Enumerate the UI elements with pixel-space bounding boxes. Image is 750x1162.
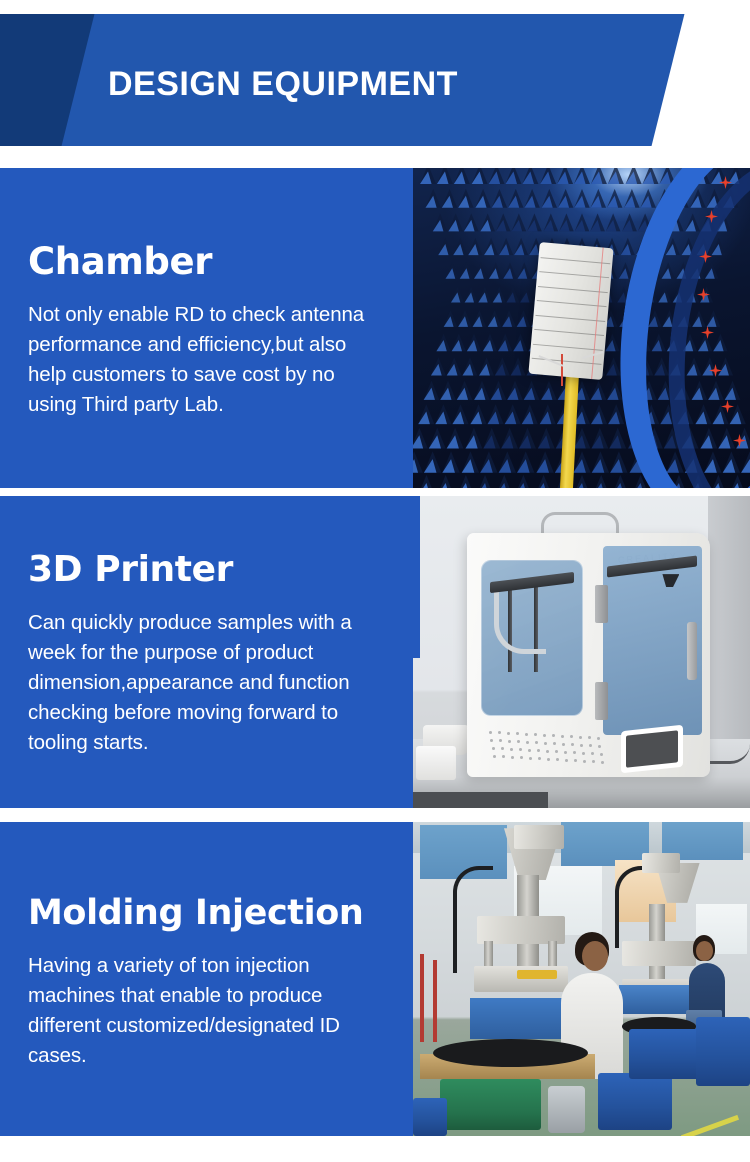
absorber-cone (440, 381, 456, 400)
absorber-cone (501, 428, 518, 449)
absorber-cone (514, 475, 532, 488)
vent-hole (597, 737, 600, 740)
vent-hole (517, 740, 520, 743)
absorber-cone (464, 286, 477, 302)
vent-hole (498, 731, 501, 734)
card-title: 3D Printer (28, 548, 385, 592)
absorber-cone (488, 262, 502, 279)
vent-hole (507, 732, 510, 735)
card-title: Chamber (28, 240, 385, 284)
absorber-cone (442, 451, 459, 472)
printer-enclosure: CREALITY (467, 533, 710, 776)
absorber-cone (420, 168, 436, 184)
absorber-cone (437, 475, 455, 488)
rack-pole (433, 960, 437, 1042)
absorber-cone (572, 475, 590, 488)
molded-cable-pile (433, 1039, 588, 1067)
vent-hole (556, 758, 559, 761)
absorber-cone (473, 381, 489, 400)
absorber-cone (443, 310, 457, 327)
vent-hole (534, 733, 537, 736)
absorber-cone (537, 428, 554, 449)
vent-hole (492, 747, 495, 750)
vent-hole (493, 755, 496, 758)
scene-left-blue-edge (413, 496, 420, 658)
vent-hole (553, 742, 556, 745)
absorber-cone (467, 333, 481, 351)
printer-touchscreen[interactable] (621, 724, 683, 773)
vent-hole (525, 733, 528, 736)
printer-door-hinge (595, 585, 608, 623)
feature-card-molding-injection: Molding Injection Having a variety of to… (0, 822, 750, 1136)
absorber-cone (454, 168, 470, 184)
machine-base (470, 998, 564, 1039)
antenna-under-test (529, 242, 614, 380)
printer-filament-tube (494, 592, 546, 654)
injection-machine-head (642, 853, 680, 873)
absorber-cone (556, 168, 572, 184)
absorber-cone (487, 404, 503, 424)
absorber-cone (618, 262, 632, 279)
absorber-cone (517, 262, 531, 279)
absorber-cone (482, 333, 496, 351)
absorber-cone (524, 189, 539, 208)
anechoic-chamber-photo (413, 168, 750, 488)
absorber-cone (459, 262, 473, 279)
printer-scene: CREALITY (413, 496, 750, 808)
absorber-cone (504, 404, 520, 424)
absorber-cone (471, 168, 487, 184)
vent-hole (508, 740, 511, 743)
injection-molding-photo (413, 822, 750, 1136)
absorber-cone (495, 475, 513, 488)
page-header: DESIGN EQUIPMENT (0, 0, 750, 160)
absorber-cone (558, 213, 573, 231)
antenna-red-cable (561, 354, 563, 386)
green-crate (440, 1079, 541, 1129)
printer-door-hinge (595, 682, 608, 720)
printer-door-panel[interactable] (603, 546, 702, 736)
page-title: DESIGN EQUIPMENT (108, 62, 458, 106)
vent-hole (489, 731, 492, 734)
absorber-cone (436, 333, 450, 351)
absorber-cone (494, 357, 509, 375)
absorber-cone (573, 168, 589, 184)
absorber-cone (505, 168, 521, 184)
absorber-cone (591, 404, 607, 424)
card-title: Molding Injection (28, 891, 385, 935)
absorber-cone (540, 381, 556, 400)
printer-top-handle (541, 512, 619, 534)
vent-hole (543, 734, 546, 737)
vent-hole (535, 741, 538, 744)
absorber-cone (517, 451, 534, 472)
vent-hole (589, 744, 592, 747)
vent-hole (588, 736, 591, 739)
vent-hole (565, 759, 568, 762)
absorber-cone (609, 428, 626, 449)
absorber-cone (516, 310, 530, 327)
absorber-cone (450, 286, 463, 302)
absorber-cone (447, 428, 464, 449)
absorber-cone (429, 428, 446, 449)
printer-nozzle (662, 574, 679, 587)
card-text-block: 3D Printer Can quickly produce samples w… (0, 496, 413, 808)
vent-hole (528, 749, 531, 752)
card-text-block: Molding Injection Having a variety of to… (0, 822, 413, 1136)
vent-hole (573, 751, 576, 754)
absorber-cone (435, 404, 451, 424)
absorber-cone (511, 213, 526, 231)
absorber-cone (475, 475, 493, 488)
printer-door-handle[interactable] (687, 622, 697, 680)
absorber-cone (478, 286, 491, 302)
vent-hole (592, 760, 595, 763)
absorber-cone (413, 451, 422, 472)
absorber-cone (430, 357, 445, 375)
vent-hole (537, 749, 540, 752)
vent-hole (520, 756, 523, 759)
absorber-cone (464, 213, 479, 231)
absorber-cone (590, 189, 605, 208)
absorber-cone (491, 189, 506, 208)
absorber-cone (498, 238, 512, 255)
card-description: Can quickly produce samples with a week … (28, 608, 385, 758)
vent-hole (579, 736, 582, 739)
vent-hole (580, 744, 583, 747)
control-label (517, 970, 557, 979)
vent-hole (501, 747, 504, 750)
absorber-cone (591, 451, 608, 472)
absorber-cone (527, 213, 542, 231)
absorber-cone (497, 333, 511, 351)
vent-hole (538, 757, 541, 760)
absorber-cone (606, 213, 621, 231)
absorber-cone (458, 189, 473, 208)
vent-hole (529, 757, 532, 760)
absorber-cone (539, 404, 555, 424)
vent-hole (490, 739, 493, 742)
absorber-cone (438, 238, 452, 255)
absorber-cone (621, 213, 636, 231)
plastic-stool (548, 1086, 585, 1133)
vent-hole (583, 760, 586, 763)
absorber-cone (510, 357, 525, 375)
floor-strip (413, 792, 548, 808)
blue-crate (696, 1017, 750, 1086)
blue-crate (629, 1029, 703, 1079)
absorber-cone (468, 238, 482, 255)
absorber-cone (573, 451, 590, 472)
absorber-cone (452, 404, 468, 424)
absorber-cone (446, 357, 461, 375)
absorber-cone (483, 428, 500, 449)
absorber-cone (445, 262, 459, 279)
absorber-cone (502, 310, 516, 327)
vent-hole (526, 741, 529, 744)
filament-container (416, 746, 456, 780)
absorber-cone (480, 451, 497, 472)
absorber-cone (458, 310, 472, 327)
injection-machine-frame (477, 916, 565, 944)
card-text-block: Chamber Not only enable RD to check ante… (0, 168, 413, 488)
vent-hole (546, 750, 549, 753)
absorber-cone (514, 238, 528, 255)
absorber-cone (506, 286, 519, 302)
absorber-cone (413, 475, 416, 488)
floor-marking (681, 1115, 739, 1136)
absorber-cone (574, 189, 589, 208)
absorber-cone (508, 189, 523, 208)
absorber-cone (470, 404, 486, 424)
absorber-cone (608, 404, 624, 424)
vent-hole (600, 753, 603, 756)
absorber-cone (490, 381, 506, 400)
absorber-cone (488, 168, 504, 184)
vent-hole (552, 734, 555, 737)
absorber-cone (465, 428, 482, 449)
absorber-cone (423, 381, 439, 400)
absorber-cone (457, 381, 473, 400)
absorber-cone (483, 238, 497, 255)
absorber-cone (605, 333, 619, 351)
absorber-cone (456, 475, 474, 488)
vent-hole (571, 743, 574, 746)
absorber-cone (541, 189, 556, 208)
absorber-cone (519, 428, 536, 449)
rack-pole (420, 954, 424, 1042)
absorber-cone (557, 189, 572, 208)
injection-machine-head (514, 825, 564, 849)
absorber-cone (611, 475, 629, 488)
feature-card-3d-printer: 3D Printer Can quickly produce samples w… (0, 496, 750, 808)
vent-hole (601, 761, 604, 764)
blue-crate (598, 1073, 672, 1130)
vent-hole (502, 755, 505, 758)
absorber-cone (591, 428, 608, 449)
vent-hole (582, 752, 585, 755)
absorber-cone (475, 189, 490, 208)
vent-hole (547, 758, 550, 761)
absorber-cone (413, 428, 427, 449)
printer-vent-grill (489, 731, 601, 765)
absorber-cone (640, 189, 655, 208)
absorber-cone (592, 475, 610, 488)
printer-gantry (490, 571, 574, 592)
absorber-cone (620, 238, 634, 255)
vent-hole (516, 732, 519, 735)
vent-hole (574, 759, 577, 762)
absorber-cone (574, 213, 589, 231)
absorber-cone (424, 451, 441, 472)
absorber-cone (418, 404, 434, 424)
absorber-cone (607, 189, 622, 208)
absorber-cone (539, 168, 555, 184)
absorber-cone (451, 333, 465, 351)
absorber-cone (442, 189, 457, 208)
absorber-cone (462, 357, 477, 375)
absorber-cone (522, 404, 538, 424)
feature-card-chamber: Chamber Not only enable RD to check ante… (0, 168, 750, 488)
absorber-cone (453, 238, 467, 255)
vent-hole (519, 748, 522, 751)
injection-machine-frame (622, 941, 696, 966)
absorber-cone (524, 381, 540, 400)
card-description: Having a variety of ton injection machin… (28, 951, 385, 1071)
absorber-cone (535, 451, 552, 472)
vent-hole (511, 756, 514, 759)
absorber-cone (522, 168, 538, 184)
chamber-scene (413, 168, 750, 488)
printer-gantry (607, 555, 697, 577)
absorber-cone (507, 381, 523, 400)
absorber-cone (432, 213, 447, 231)
vent-hole (544, 742, 547, 745)
absorber-cone (495, 213, 510, 231)
worker-head (582, 941, 608, 971)
absorber-cone (492, 286, 505, 302)
factory-scene (413, 822, 750, 1136)
absorber-cone (503, 262, 517, 279)
absorber-cone (425, 189, 440, 208)
vent-hole (591, 752, 594, 755)
vent-hole (510, 748, 513, 751)
absorber-cone (461, 451, 478, 472)
hydraulic-hose (615, 866, 649, 948)
absorber-cone (417, 475, 435, 488)
absorber-cone (642, 168, 658, 184)
absorber-cone (513, 333, 527, 351)
blue-crate (413, 1098, 447, 1136)
absorber-cone (543, 213, 558, 231)
printer-front-window (481, 560, 583, 716)
absorber-cone (437, 168, 453, 184)
absorber-cone (498, 451, 515, 472)
vent-hole (562, 743, 565, 746)
background-wall (708, 496, 750, 739)
vent-hole (570, 735, 573, 738)
absorber-cone (474, 262, 488, 279)
card-description: Not only enable RD to check antenna perf… (28, 300, 385, 420)
absorber-cone (478, 357, 493, 375)
absorber-cone (520, 286, 533, 302)
absorber-cone (606, 357, 621, 375)
vent-hole (561, 735, 564, 738)
absorber-cone (625, 168, 641, 184)
vent-hole (598, 745, 601, 748)
absorber-cone (487, 310, 501, 327)
absorber-cone (610, 451, 627, 472)
absorber-cone (590, 381, 606, 400)
absorber-cone (591, 168, 607, 184)
absorber-cone (608, 168, 624, 184)
vent-hole (555, 750, 558, 753)
absorber-cone (472, 310, 486, 327)
absorber-cone (448, 213, 463, 231)
3d-printer-photo: CREALITY (413, 496, 750, 808)
vent-hole (499, 739, 502, 742)
absorber-cone (534, 475, 552, 488)
vent-hole (564, 751, 567, 754)
absorber-cone (623, 189, 638, 208)
absorber-cone (590, 213, 605, 231)
absorber-cone (480, 213, 495, 231)
